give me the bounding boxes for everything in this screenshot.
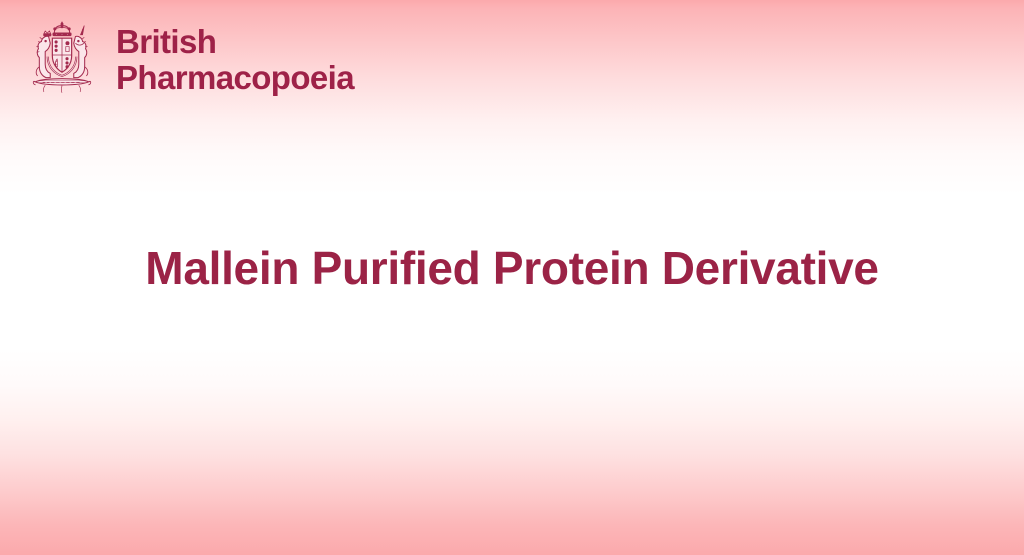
brand-wordmark: British Pharmacopoeia xyxy=(116,18,354,96)
title-card-page: British Pharmacopoeia Mallein Purified P… xyxy=(0,0,1024,555)
brand-name-line-2: Pharmacopoeia xyxy=(116,60,354,96)
brand-name-line-1: British xyxy=(116,24,354,60)
page-title: Mallein Purified Protein Derivative xyxy=(145,240,878,296)
title-block: Mallein Purified Protein Derivative xyxy=(0,240,1024,296)
brand-logo[interactable]: British Pharmacopoeia xyxy=(20,18,354,102)
royal-coat-of-arms-icon xyxy=(20,18,104,102)
